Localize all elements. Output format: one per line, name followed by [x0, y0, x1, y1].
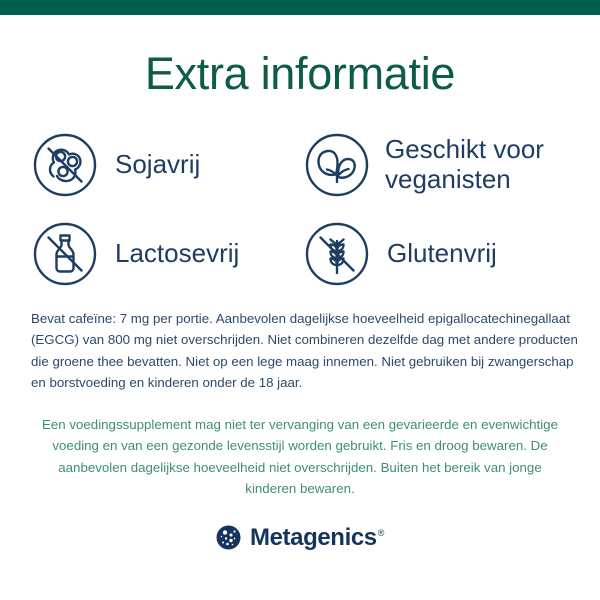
extra-information-panel: Extra informatie Sojavrij [0, 0, 600, 600]
badge-veganisten: Geschikt voor veganisten [302, 125, 590, 205]
brand-name-text: Metagenics [250, 524, 377, 551]
registered-trademark-icon: ® [378, 528, 384, 538]
soy-free-icon [30, 130, 100, 200]
badge-sojavrij: Sojavrij [30, 125, 302, 205]
panel-content: Extra informatie Sojavrij [0, 15, 600, 600]
badge-label-sojavrij: Sojavrij [115, 150, 200, 180]
badge-lactosevrij: Lactosevrij [30, 214, 302, 294]
badge-grid: Sojavrij Geschikt voor veganisten [30, 125, 600, 294]
gluten-free-icon [302, 219, 372, 289]
caffeine-warning-text: Bevat cafeïne: 7 mg per portie. Aanbevol… [31, 308, 578, 394]
top-accent-band [0, 0, 600, 15]
badge-label-veganisten: Geschikt voor veganisten [385, 135, 590, 194]
badge-label-lactosevrij: Lactosevrij [115, 239, 239, 269]
page-title: Extra informatie [0, 49, 600, 99]
badge-glutenvrij: Glutenvrij [302, 214, 590, 294]
badge-label-glutenvrij: Glutenvrij [387, 239, 497, 269]
brand-name: Metagenics® [250, 524, 384, 552]
supplement-disclaimer-text: Een voedingssupplement mag niet ter verv… [38, 414, 562, 500]
vegan-leaf-icon [302, 130, 372, 200]
brand-logo: Metagenics® [0, 524, 600, 552]
metagenics-mark-icon [216, 525, 241, 550]
lactose-free-icon [30, 219, 100, 289]
